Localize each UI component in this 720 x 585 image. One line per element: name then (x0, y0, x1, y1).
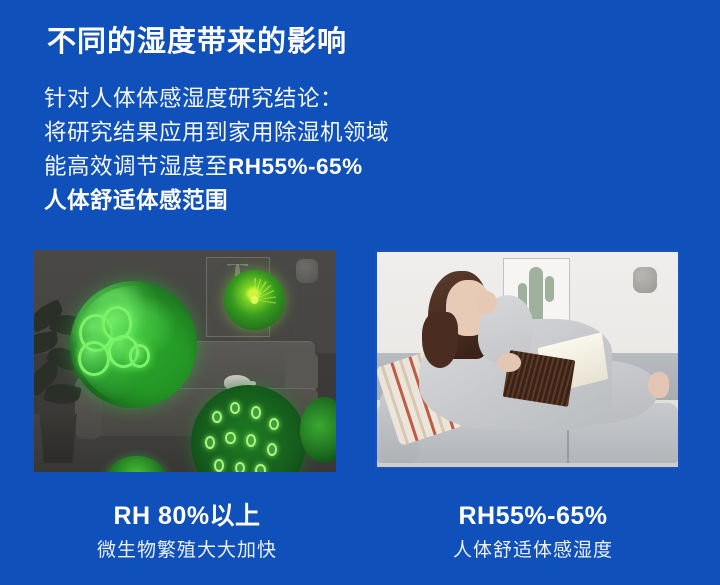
sofa-cushion (285, 354, 318, 390)
intro-line-2: 将研究结果应用到家用除湿机领域 (44, 116, 389, 150)
intro-paragraph: 针对人体体感湿度研究结论： 将研究结果应用到家用除湿机领域 能高效调节湿度至RH… (44, 82, 389, 218)
microbe-cell (129, 344, 151, 368)
dark-room-scene (34, 250, 336, 472)
caption-title: RH55%-65% (368, 500, 698, 532)
page-title: 不同的湿度带来的影响 (47, 18, 347, 60)
caption-row: RH 80%以上 微生物繁殖大大加快 RH55%-65% 人体舒适体感湿度 (0, 500, 720, 585)
caption-subtitle: 人体舒适体感湿度 (368, 538, 698, 564)
intro-line-3-highlight: RH55%-65% (228, 154, 363, 179)
caption-comfort-humidity: RH55%-65% 人体舒适体感湿度 (368, 500, 698, 564)
caption-high-humidity: RH 80%以上 微生物繁殖大大加快 (22, 500, 352, 564)
photo-comfort-humidity (375, 250, 680, 469)
wall-knob-icon (296, 259, 318, 283)
wall-knob-icon (633, 267, 657, 293)
caption-title: RH 80%以上 (22, 500, 352, 532)
intro-line-1: 针对人体体感湿度研究结论： (44, 82, 389, 116)
plant-pot (37, 414, 79, 463)
photo-row (0, 250, 720, 475)
woman-foot (648, 372, 669, 398)
intro-line-3-normal: 能高效调节湿度至 (44, 154, 228, 179)
caption-subtitle: 微生物繁殖大大加快 (22, 538, 352, 564)
microbe-cell (78, 341, 110, 376)
intro-line-4: 人体舒适体感范围 (44, 184, 389, 218)
light-room-scene (377, 252, 678, 467)
microbe-sphere-large (70, 281, 197, 408)
microbe-sphere-top-right (224, 270, 284, 330)
humidity-infographic-poster: 不同的湿度带来的影响 针对人体体感湿度研究结论： 将研究结果应用到家用除湿机领域… (0, 0, 720, 585)
intro-line-3: 能高效调节湿度至RH55%-65% (44, 150, 389, 184)
photo-high-humidity (34, 250, 336, 472)
